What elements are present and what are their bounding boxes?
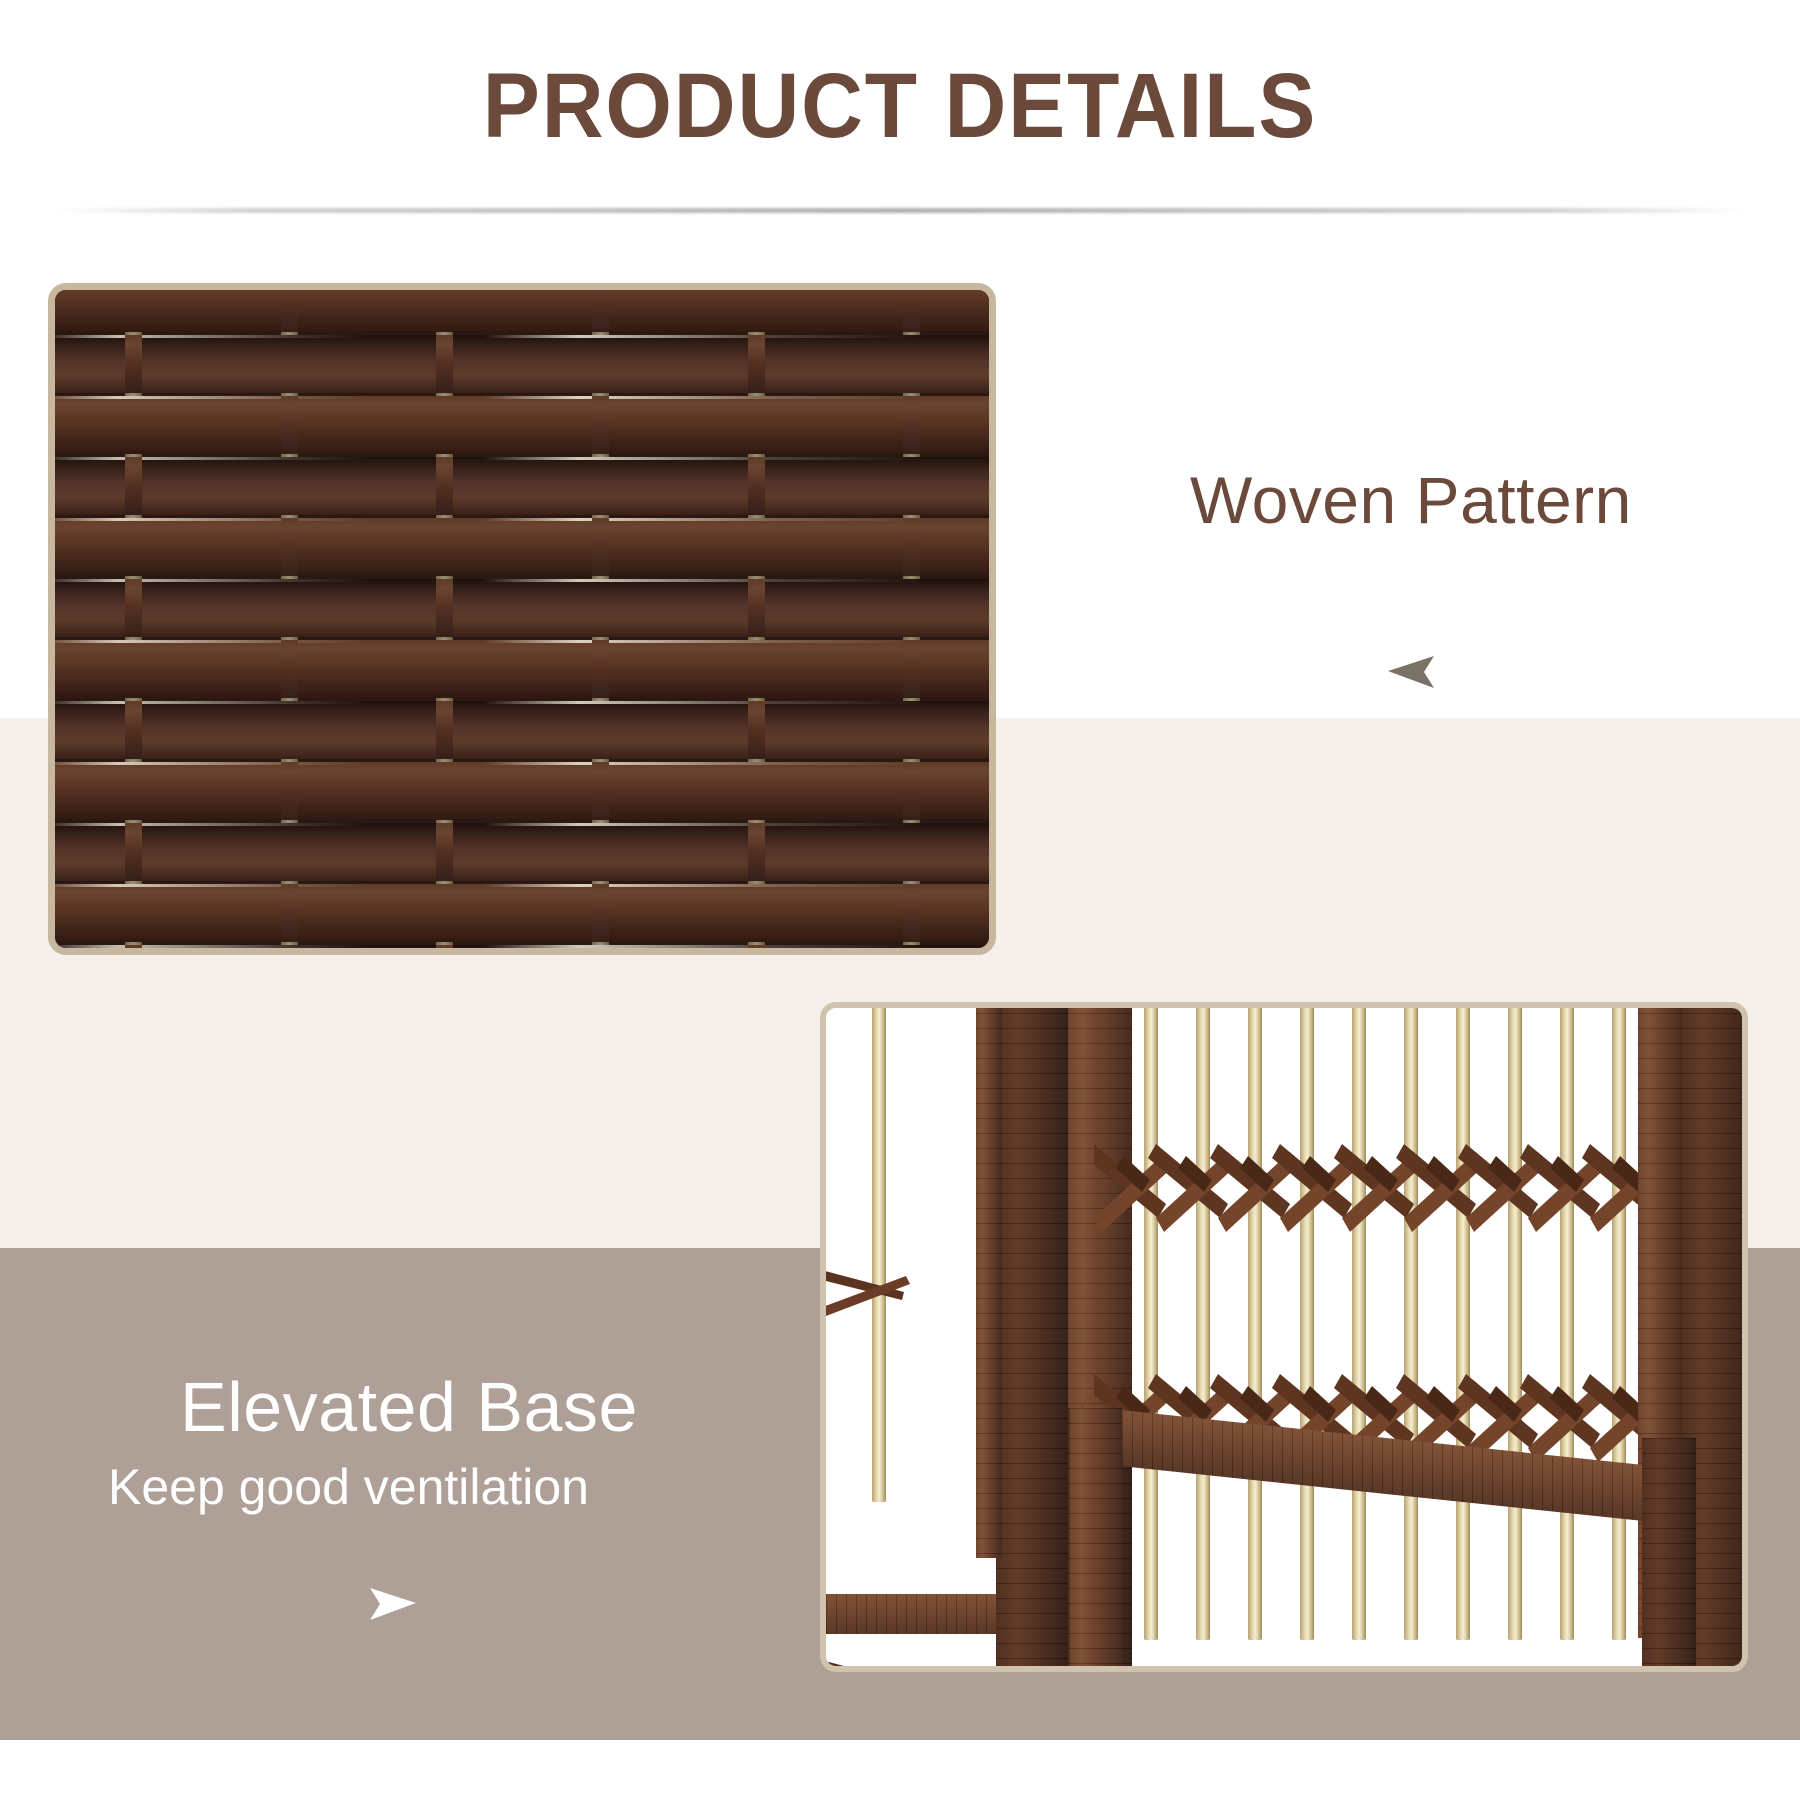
weave-horizontal-slat (48, 335, 996, 393)
weave-overlap-tab (903, 396, 920, 454)
weave-horizontal-slat (48, 884, 996, 942)
weave-overlap-tab (281, 640, 298, 698)
elevated-base-photo (820, 1002, 1748, 1672)
divider-vertical-pole (1456, 1002, 1470, 1640)
weave-overlap-tab (436, 945, 453, 955)
weave-overlap-tab (592, 283, 609, 332)
weave-overlap-tab (748, 579, 765, 637)
divider-vertical-pole (872, 1002, 886, 1502)
weave-overlap-tab (592, 640, 609, 698)
weave-overlap-tab (281, 762, 298, 820)
weave-overlap-tab (436, 579, 453, 637)
divider-lattice-band (1094, 1126, 1654, 1256)
elevated-base-sublabel: Keep good ventilation (108, 1462, 589, 1512)
weave-overlap-tab (281, 518, 298, 576)
weave-overlap-tab (903, 283, 920, 332)
weave-overlap-tab (592, 884, 609, 942)
weave-overlap-tab (436, 335, 453, 393)
weave-horizontal-slat (48, 579, 996, 637)
divider-front-leg (1070, 1408, 1122, 1672)
weave-horizontal-slat (48, 701, 996, 759)
weave-overlap-tab (436, 701, 453, 759)
weave-horizontal-slat (48, 283, 996, 332)
divider-front-leg (1642, 1438, 1696, 1672)
weave-overlap-tab (436, 457, 453, 515)
weave-horizontal-slat (48, 640, 996, 698)
weave-overlap-tab (281, 884, 298, 942)
divider-vertical-pole (1352, 1002, 1366, 1640)
woven-pattern-photo (48, 283, 996, 955)
weave-horizontal-slat (48, 762, 996, 820)
divider-base-illustration (826, 1008, 1742, 1666)
weave-horizontal-slat (48, 945, 996, 955)
weave-overlap-tab (748, 457, 765, 515)
weave-overlap-tab (125, 823, 142, 881)
header-divider (55, 208, 1745, 213)
weave-overlap-tab (592, 396, 609, 454)
divider-bottom-rail (820, 1594, 1006, 1634)
weave-overlap-tab (592, 518, 609, 576)
weave-overlap-tab (125, 579, 142, 637)
weave-overlap-tab (125, 945, 142, 955)
divider-vertical-pole (1508, 1002, 1522, 1640)
weave-horizontal-slat (48, 518, 996, 576)
page-title: PRODUCT DETAILS (63, 58, 1737, 155)
divider-lattice-x (820, 1258, 964, 1328)
weave-overlap-tab (903, 762, 920, 820)
weave-overlap-tab (125, 335, 142, 393)
divider-vertical-pole (1300, 1002, 1314, 1640)
weave-overlap-tab (748, 701, 765, 759)
arrow-right-icon (368, 1586, 420, 1622)
weave-illustration (55, 290, 989, 948)
weave-horizontal-slat (48, 396, 996, 454)
weave-overlap-tab (592, 762, 609, 820)
weave-overlap-tab (436, 823, 453, 881)
weave-horizontal-slat (48, 823, 996, 881)
weave-overlap-tab (748, 945, 765, 955)
weave-overlap-tab (748, 823, 765, 881)
weave-overlap-tab (748, 335, 765, 393)
product-details-infographic: PRODUCT DETAILS Woven Pattern Elevated B… (0, 0, 1800, 1800)
weave-overlap-tab (281, 396, 298, 454)
divider-lattice-x (820, 1648, 964, 1672)
weave-overlap-tab (903, 884, 920, 942)
divider-corner-post (996, 1002, 1068, 1672)
divider-vertical-pole (1612, 1002, 1626, 1640)
weave-overlap-tab (281, 283, 298, 332)
elevated-base-label: Elevated Base (180, 1372, 638, 1442)
divider-post-edge (976, 1002, 1002, 1558)
divider-vertical-pole (1196, 1002, 1210, 1640)
weave-overlap-tab (903, 518, 920, 576)
woven-pattern-label: Woven Pattern (1190, 462, 1632, 538)
weave-horizontal-slat (48, 457, 996, 515)
weave-overlap-tab (125, 701, 142, 759)
weave-overlap-tab (125, 457, 142, 515)
divider-vertical-pole (1404, 1002, 1418, 1640)
divider-vertical-pole (1248, 1002, 1262, 1640)
divider-vertical-pole (1144, 1002, 1158, 1640)
weave-overlap-tab (903, 640, 920, 698)
divider-vertical-pole (1560, 1002, 1574, 1640)
